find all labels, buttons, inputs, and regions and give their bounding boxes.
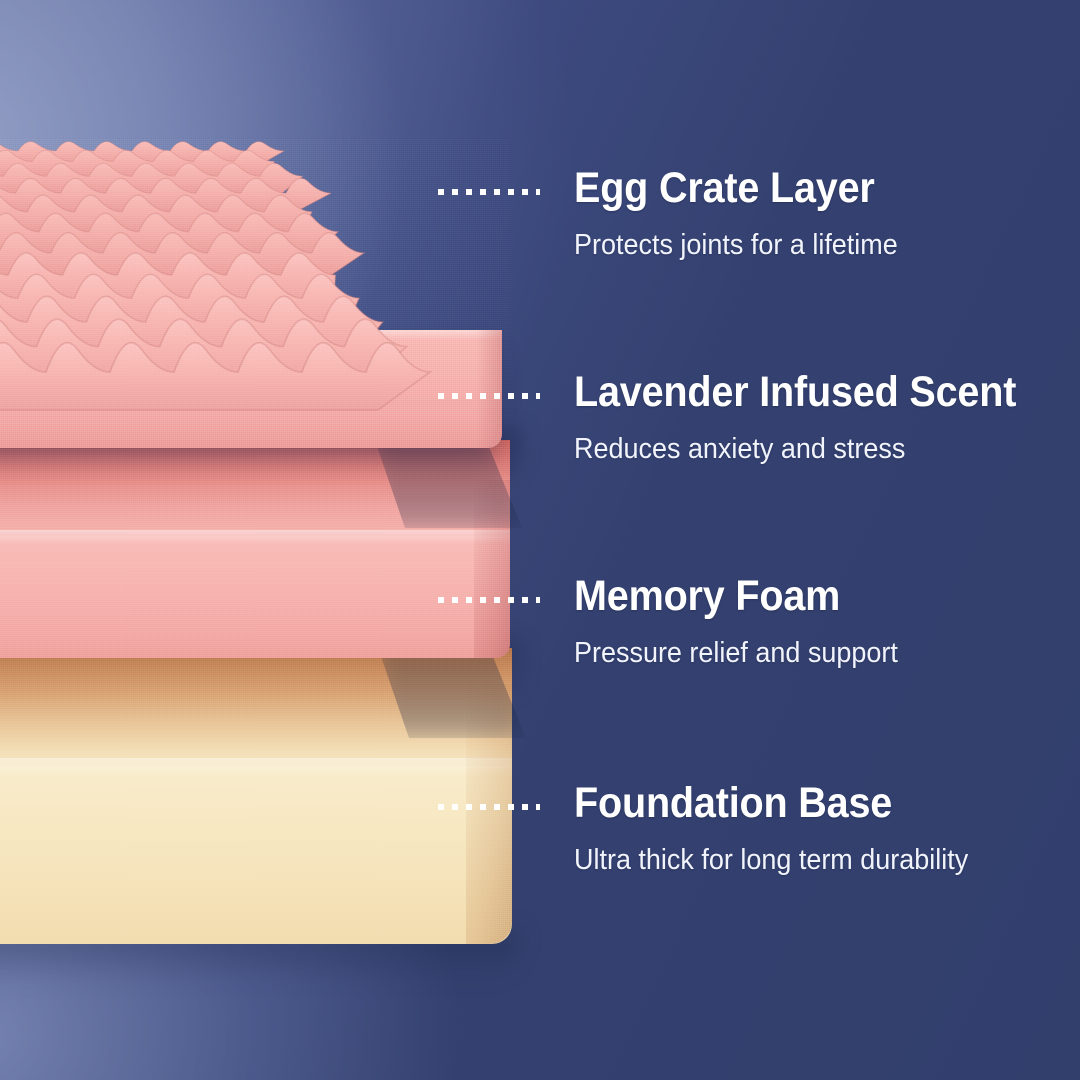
foundation-front-face — [0, 766, 512, 944]
callout-subtitle: Reduces anxiety and stress — [574, 435, 1021, 464]
callout-subtitle: Pressure relief and support — [574, 639, 898, 668]
leader-dotted-line — [438, 597, 540, 603]
foundation-right-face — [466, 684, 512, 944]
leader-dotted-line — [438, 393, 540, 399]
callout-text-group: Egg Crate Layer Protects joints for a li… — [574, 167, 922, 260]
callout-text-group: Foundation Base Ultra thick for long ter… — [574, 782, 998, 875]
foundation-top-face — [0, 648, 512, 766]
memory-foam-front-face — [0, 536, 510, 658]
memory-foam-right-face — [474, 480, 510, 658]
egg-crate-waves-svg — [0, 138, 510, 450]
leader-dotted-line — [438, 804, 540, 810]
foundation-base-slab — [0, 648, 512, 944]
egg-crate-wave-surface — [0, 138, 510, 450]
callout-title: Lavender Infused Scent — [574, 371, 1016, 414]
callout-subtitle: Ultra thick for long term durability — [574, 846, 968, 875]
mattress-layers-infographic: Egg Crate Layer Protects joints for a li… — [0, 0, 1080, 1080]
memory-foam-slab — [0, 440, 510, 658]
callout-subtitle: Protects joints for a lifetime — [574, 231, 898, 260]
foundation-bevel-highlight — [0, 758, 512, 776]
memory-foam-top-face — [0, 440, 510, 536]
leader-dotted-line — [438, 189, 540, 195]
callout-text-group: Lavender Infused Scent Reduces anxiety a… — [574, 371, 1055, 464]
callout-title: Foundation Base — [574, 782, 964, 825]
callout-title: Egg Crate Layer — [574, 167, 894, 210]
memory-foam-bevel-highlight — [0, 530, 510, 544]
callout-text-group: Memory Foam Pressure relief and support — [574, 575, 922, 668]
callout-title: Memory Foam — [574, 575, 894, 618]
